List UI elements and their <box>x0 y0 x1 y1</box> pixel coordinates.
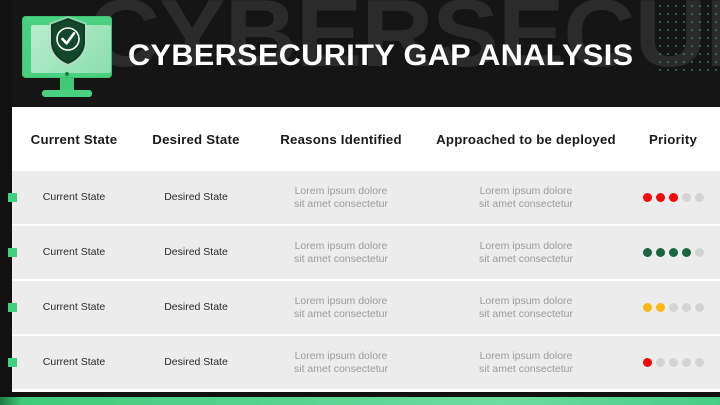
cell-priority <box>626 303 720 312</box>
cell-current-state: Current State <box>12 356 136 369</box>
cell-reasons-identified: Lorem ipsum doloresit amet consectetur <box>256 350 426 376</box>
cell-desired-state: Desired State <box>136 301 256 314</box>
priority-dot-filled <box>669 248 678 257</box>
cell-reasons-line-2: sit amet consectetur <box>256 253 426 266</box>
priority-dot-empty <box>695 303 704 312</box>
row-marker <box>8 358 17 367</box>
cell-current-state: Current State <box>12 191 136 204</box>
cell-priority <box>626 193 720 202</box>
priority-dot-empty <box>682 303 691 312</box>
priority-dot-filled <box>669 193 678 202</box>
cell-approach-line-2: sit amet consectetur <box>426 308 626 321</box>
column-header-reasons-identified: Reasons Identified <box>254 132 427 147</box>
table-row[interactable]: Current StateDesired StateLorem ipsum do… <box>12 171 720 224</box>
cell-priority <box>626 358 720 367</box>
priority-dot-empty <box>695 358 704 367</box>
cell-approached-to-be-deployed: Lorem ipsum doloresit amet consectetur <box>426 350 626 376</box>
table-row[interactable]: Current StateDesired StateLorem ipsum do… <box>12 336 720 389</box>
cell-approach-line-2: sit amet consectetur <box>426 363 626 376</box>
bottom-accent-bar <box>0 397 720 405</box>
cell-desired-state: Desired State <box>136 356 256 369</box>
monitor-shield-check-icon <box>18 12 116 100</box>
page-title: CYBERSECURITY GAP ANALYSIS <box>128 40 633 72</box>
column-header-desired-state: Desired State <box>135 132 257 147</box>
cell-desired-state: Desired State <box>136 191 256 204</box>
priority-dot-filled <box>643 303 652 312</box>
gap-analysis-table: Current State Desired State Reasons Iden… <box>12 107 720 392</box>
slide-header: CYBERSECURITY GAP ANALYSIS <box>0 0 720 107</box>
cell-reasons-line-2: sit amet consectetur <box>256 308 426 321</box>
cell-reasons-line-1: Lorem ipsum dolore <box>256 350 426 363</box>
cell-approach-line-1: Lorem ipsum dolore <box>426 185 626 198</box>
cell-reasons-line-1: Lorem ipsum dolore <box>256 295 426 308</box>
column-header-priority: Priority <box>625 132 720 147</box>
cell-current-state: Current State <box>12 246 136 259</box>
cell-reasons-line-2: sit amet consectetur <box>256 198 426 211</box>
slide-canvas: CYBERSECURITY CYBERSECURITY GAP ANALYSIS <box>0 0 720 405</box>
table-header-row: Current State Desired State Reasons Iden… <box>12 107 720 171</box>
cell-approach-line-2: sit amet consectetur <box>426 253 626 266</box>
cell-reasons-line-2: sit amet consectetur <box>256 363 426 376</box>
monitor-indicator-dot <box>65 72 69 76</box>
cell-approached-to-be-deployed: Lorem ipsum doloresit amet consectetur <box>426 185 626 211</box>
priority-dot-filled <box>682 248 691 257</box>
cell-priority <box>626 248 720 257</box>
table-row[interactable]: Current StateDesired StateLorem ipsum do… <box>12 281 720 334</box>
priority-dot-empty <box>682 358 691 367</box>
row-marker <box>8 193 17 202</box>
priority-dot-empty <box>695 248 704 257</box>
column-header-approached-to-be-deployed: Approached to be deployed <box>424 132 628 147</box>
priority-rating[interactable] <box>626 358 720 367</box>
cell-approach-line-1: Lorem ipsum dolore <box>426 295 626 308</box>
cell-approached-to-be-deployed: Lorem ipsum doloresit amet consectetur <box>426 240 626 266</box>
cell-approach-line-1: Lorem ipsum dolore <box>426 350 626 363</box>
cell-reasons-line-1: Lorem ipsum dolore <box>256 240 426 253</box>
cell-approach-line-2: sit amet consectetur <box>426 198 626 211</box>
priority-rating[interactable] <box>626 193 720 202</box>
priority-rating[interactable] <box>626 248 720 257</box>
cell-reasons-identified: Lorem ipsum doloresit amet consectetur <box>256 185 426 211</box>
priority-dot-filled <box>643 248 652 257</box>
cell-approached-to-be-deployed: Lorem ipsum doloresit amet consectetur <box>426 295 626 321</box>
table-body: Current StateDesired StateLorem ipsum do… <box>12 171 720 389</box>
table-row[interactable]: Current StateDesired StateLorem ipsum do… <box>12 226 720 279</box>
priority-dot-filled <box>643 358 652 367</box>
row-marker <box>8 303 17 312</box>
cell-approach-line-1: Lorem ipsum dolore <box>426 240 626 253</box>
cell-desired-state: Desired State <box>136 246 256 259</box>
priority-dot-filled <box>656 303 665 312</box>
priority-dot-filled <box>656 193 665 202</box>
cell-reasons-line-1: Lorem ipsum dolore <box>256 185 426 198</box>
column-header-current-state: Current State <box>11 132 137 147</box>
left-edge-strip <box>0 0 12 405</box>
priority-dot-empty <box>669 358 678 367</box>
cell-current-state: Current State <box>12 301 136 314</box>
shield-check-icon <box>47 15 89 67</box>
monitor-base <box>42 90 92 97</box>
priority-dot-empty <box>695 193 704 202</box>
priority-rating[interactable] <box>626 303 720 312</box>
priority-dot-filled <box>656 248 665 257</box>
priority-dot-empty <box>669 303 678 312</box>
priority-dot-filled <box>643 193 652 202</box>
priority-dot-empty <box>682 193 691 202</box>
priority-dot-empty <box>656 358 665 367</box>
cell-reasons-identified: Lorem ipsum doloresit amet consectetur <box>256 240 426 266</box>
row-marker <box>8 248 17 257</box>
cell-reasons-identified: Lorem ipsum doloresit amet consectetur <box>256 295 426 321</box>
